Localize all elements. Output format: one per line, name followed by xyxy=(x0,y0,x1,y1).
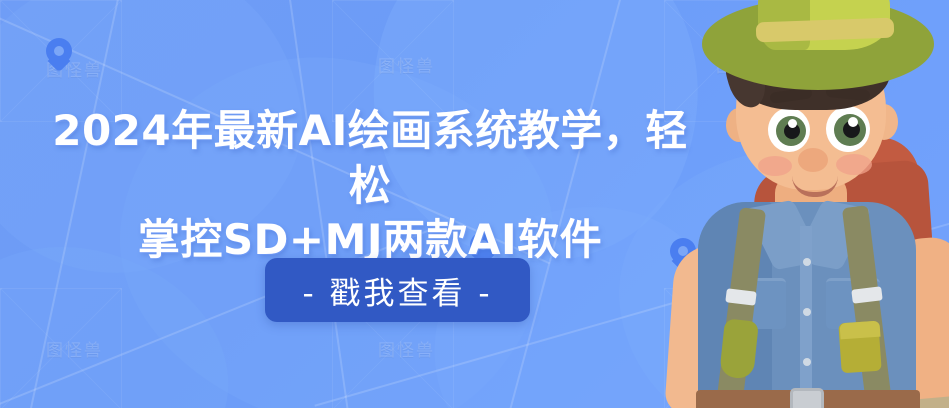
nose xyxy=(798,148,828,172)
headline: 2024年最新AI绘画系统教学，轻松 掌控SD+MJ两款AI软件 xyxy=(50,104,690,268)
map-pin-hole xyxy=(54,46,64,56)
cheek-right xyxy=(836,154,872,175)
shirt-button xyxy=(803,308,811,316)
map-pin-hole xyxy=(678,246,688,256)
belt-buckle xyxy=(790,388,824,408)
promo-banner: 图怪兽 图怪兽 图怪兽 图怪兽 图怪兽 图怪兽 xyxy=(0,0,949,408)
shirt-button xyxy=(803,358,811,366)
map-pin-icon xyxy=(46,38,72,72)
cta-button[interactable]: - 戳我查看 - xyxy=(265,258,530,322)
utility-pouch-flap xyxy=(839,321,880,340)
eye-highlight-left xyxy=(788,119,797,128)
headline-line-1: 2024年最新AI绘画系统教学，轻松 xyxy=(52,106,688,210)
eye-highlight-right xyxy=(848,117,858,127)
watermark-text: 图怪兽 xyxy=(378,52,435,77)
cheek-left xyxy=(758,156,792,176)
watermark-text: 图怪兽 xyxy=(46,336,103,361)
shirt-button xyxy=(803,258,811,266)
watermark-text: 图怪兽 xyxy=(378,336,435,361)
cta-button-label: - 戳我查看 - xyxy=(302,268,492,313)
